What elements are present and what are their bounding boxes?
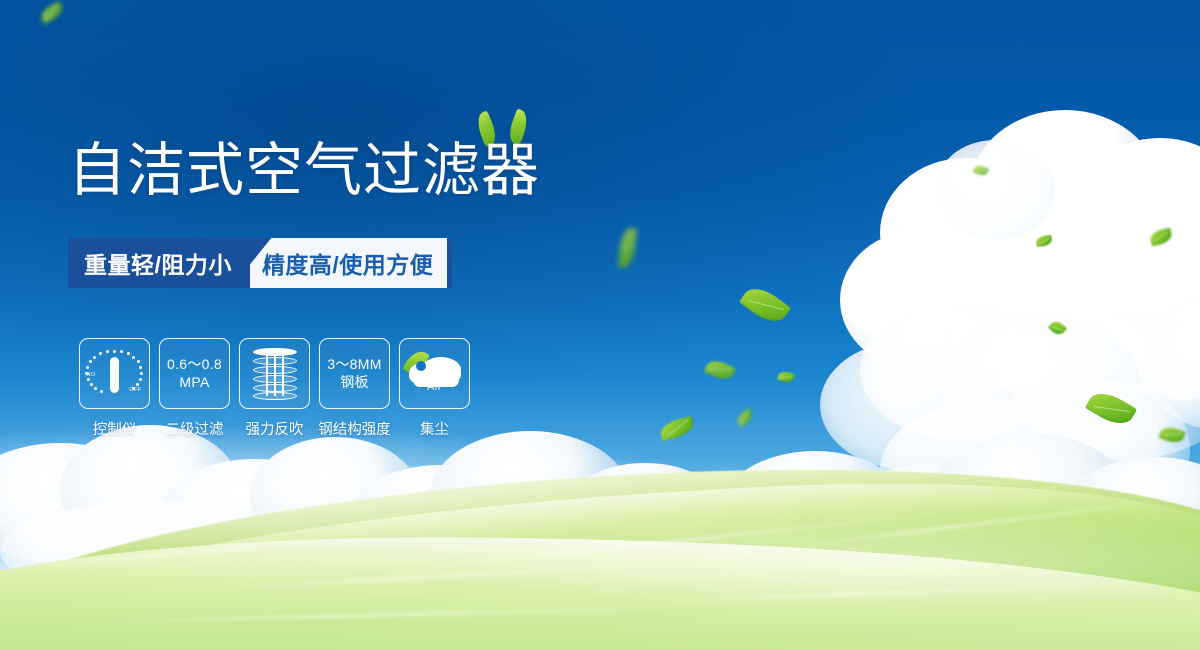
steel-line-1: 3～8MM bbox=[327, 356, 381, 374]
gauge-label-off: OFF bbox=[129, 387, 141, 393]
feature-caption: 强力反吹 bbox=[246, 418, 304, 439]
feature-icon-box bbox=[239, 338, 310, 409]
cloud-notch bbox=[416, 361, 426, 371]
feature-caption: 二级过滤 bbox=[166, 418, 224, 439]
pressure-line-2: MPA bbox=[167, 374, 222, 392]
feature-item-steel[interactable]: 3～8MM 钢板 钢结构强度 bbox=[318, 338, 391, 439]
feature-item-dust[interactable]: Air 集尘 bbox=[398, 338, 471, 439]
product-banner: 自洁式空气过滤器 重量轻/阻力小 精度高/使用方便 bbox=[0, 0, 1200, 650]
feature-icon-box: 3～8MM 钢板 bbox=[319, 338, 390, 409]
feature-item-pressure[interactable]: 0.6～0.8 MPA 二级过滤 bbox=[158, 338, 231, 439]
steel-line-2: 钢板 bbox=[327, 374, 381, 392]
air-label: Air bbox=[407, 381, 463, 393]
feature-icon-box: NO OFF bbox=[79, 338, 150, 409]
coil-filter-icon bbox=[253, 348, 297, 400]
subtitle-end-cap bbox=[447, 238, 452, 288]
pressure-line-1: 0.6～0.8 bbox=[167, 356, 222, 374]
grass-field bbox=[0, 420, 1200, 650]
subtitle-right-segment: 精度高/使用方便 bbox=[254, 238, 447, 288]
feature-caption: 控制仪 bbox=[93, 418, 137, 439]
gauge-icon: NO OFF bbox=[87, 348, 143, 400]
gauge-label-no: NO bbox=[87, 372, 96, 378]
page-title: 自洁式空气过滤器 bbox=[68, 140, 540, 201]
subtitle-left-segment: 重量轻/阻力小 bbox=[68, 238, 250, 288]
pressure-text-icon: 0.6～0.8 MPA bbox=[167, 356, 222, 391]
feature-caption: 钢结构强度 bbox=[318, 418, 391, 439]
gauge-needle bbox=[110, 357, 119, 393]
feature-caption: 集尘 bbox=[420, 418, 449, 439]
feature-item-backblow[interactable]: 强力反吹 bbox=[238, 338, 311, 439]
feature-item-control[interactable]: NO OFF 控制仪 bbox=[78, 338, 151, 439]
air-cloud-icon: Air bbox=[407, 351, 463, 397]
subtitle-bar: 重量轻/阻力小 精度高/使用方便 bbox=[68, 238, 452, 288]
feature-icon-box: Air bbox=[399, 338, 470, 409]
feature-list: NO OFF 控制仪 0.6～0.8 MPA 二级过滤 bbox=[78, 338, 471, 439]
steel-text-icon: 3～8MM 钢板 bbox=[327, 356, 381, 391]
feature-icon-box: 0.6～0.8 MPA bbox=[159, 338, 230, 409]
